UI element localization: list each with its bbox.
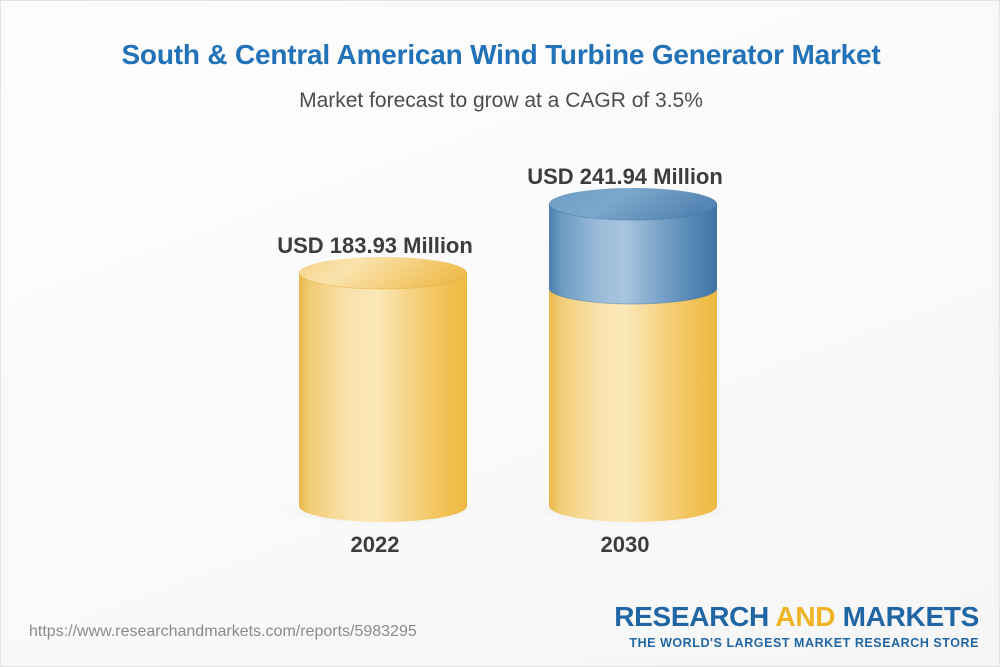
- chart-page: South & Central American Wind Turbine Ge…: [0, 0, 1000, 667]
- bar-chart-plot: [1, 1, 1000, 667]
- data-label-2022: USD 183.93 Million: [225, 233, 525, 259]
- research-and-markets-logo[interactable]: RESEARCH AND MARKETS THE WORLD'S LARGEST…: [614, 603, 979, 650]
- logo-wordmark: RESEARCH AND MARKETS: [614, 603, 979, 631]
- logo-word-markets: MARKETS: [843, 601, 979, 632]
- logo-word-and: AND: [775, 601, 842, 632]
- bar-2022-body: [299, 273, 467, 522]
- data-label-2030: USD 241.94 Million: [475, 164, 775, 190]
- logo-tagline: THE WORLD'S LARGEST MARKET RESEARCH STOR…: [614, 637, 979, 650]
- report-url[interactable]: https://www.researchandmarkets.com/repor…: [29, 623, 417, 641]
- logo-word-research: RESEARCH: [614, 601, 775, 632]
- bar-2030-base-segment: [549, 288, 717, 522]
- category-label-2030: 2030: [475, 532, 775, 558]
- bar-2030[interactable]: [528, 188, 738, 526]
- bar-2022[interactable]: [278, 257, 488, 526]
